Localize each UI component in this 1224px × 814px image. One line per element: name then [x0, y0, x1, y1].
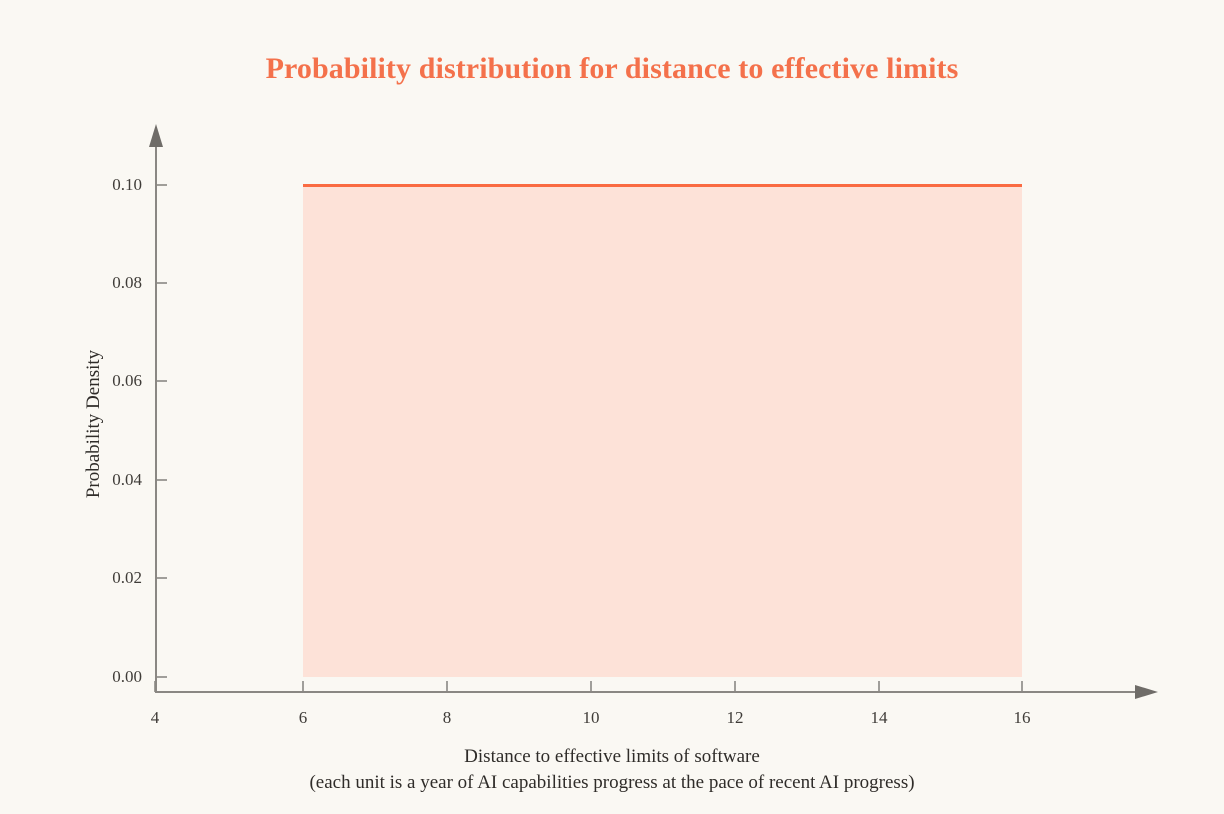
y-tick-label: 0.02	[70, 568, 142, 588]
y-tick-label: 0.10	[70, 175, 142, 195]
x-tick-label: 8	[443, 708, 452, 728]
x-tick-label: 16	[1014, 708, 1031, 728]
y-axis-arrow-icon	[149, 124, 163, 147]
x-axis-title-sub: (each unit is a year of AI capabilities …	[0, 770, 1224, 796]
y-tick-label: 0.00	[70, 667, 142, 687]
plot-canvas	[0, 0, 1224, 814]
distribution-area-fill	[303, 185, 1022, 677]
x-axis-title-main: Distance to effective limits of software	[464, 746, 760, 767]
x-axis-title: Distance to effective limits of software…	[0, 744, 1224, 796]
y-tick-label: 0.08	[70, 273, 142, 293]
x-tick-label: 4	[151, 708, 160, 728]
x-axis-arrow-icon	[1135, 685, 1158, 699]
x-tick-label: 14	[871, 708, 888, 728]
y-tick-label: 0.04	[70, 470, 142, 490]
x-tick-label: 6	[299, 708, 308, 728]
y-axis-title: Probability Density	[83, 324, 105, 524]
y-tick-label: 0.06	[70, 371, 142, 391]
x-tick-label: 12	[727, 708, 744, 728]
chart-container: Probability distribution for distance to…	[0, 0, 1224, 814]
x-tick-label: 10	[583, 708, 600, 728]
